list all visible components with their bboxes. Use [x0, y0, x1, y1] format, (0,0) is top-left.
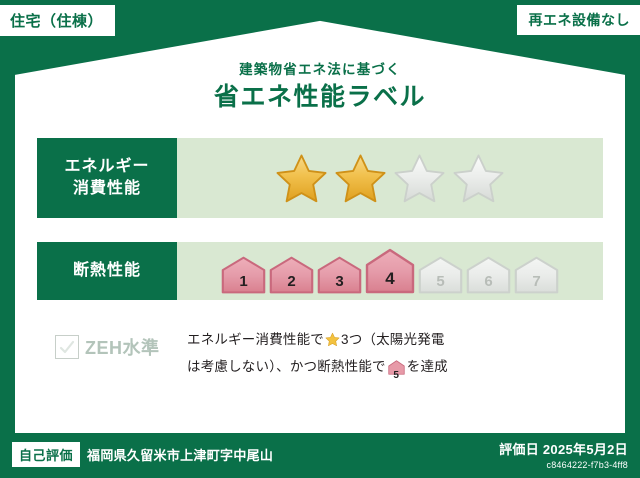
star-filled-icon	[333, 152, 388, 205]
energy-performance-value	[177, 138, 603, 218]
energy-performance-label-key: エネルギー 消費性能	[37, 138, 177, 218]
desc-line2-part2: を達成	[407, 359, 448, 374]
zeh-label: ZEH水準	[85, 334, 160, 360]
insulation-level-number: 3	[317, 274, 362, 289]
footer-left: 自己評価 福岡県久留米市上津町字中尾山	[12, 442, 273, 467]
energy-key-line1: エネルギー	[64, 156, 149, 178]
footer-right: 評価日 2025年5月2日 c8464222-f7b3-4ff8	[499, 439, 628, 470]
star-rating	[274, 152, 506, 205]
star-filled-icon	[274, 152, 329, 205]
insulation-level-marker: 7	[514, 256, 559, 294]
energy-key-line2: 消費性能	[64, 178, 149, 200]
insulation-level-marker: 4	[365, 248, 415, 294]
self-assessment-badge: 自己評価	[12, 442, 80, 467]
inline-house-icon: 5	[388, 359, 405, 383]
insulation-level-number: 1	[221, 274, 266, 289]
insulation-level-number: 5	[418, 274, 463, 289]
insulation-performance-value: 1234567	[177, 242, 603, 300]
insulation-level-marker: 2	[269, 256, 314, 294]
title-subtitle: 建築物省エネ法に基づく	[15, 62, 625, 78]
zeh-mark: ZEH水準	[37, 320, 187, 360]
insulation-level-marker: 6	[466, 256, 511, 294]
card-inner: 建築物省エネ法に基づく 省エネ性能ラベル エネルギー 消費性能 断熱性能	[15, 20, 625, 433]
page-title: 建築物省エネ法に基づく 省エネ性能ラベル	[15, 62, 625, 112]
title-main: 省エネ性能ラベル	[15, 83, 625, 112]
star-empty-icon	[451, 152, 506, 205]
zeh-checkbox-icon	[55, 335, 79, 359]
desc-line2-part1: は考慮しない）、かつ断熱性能で	[187, 359, 386, 374]
building-type-badge: 住宅（住棟）	[0, 5, 115, 36]
footer: 自己評価 福岡県久留米市上津町字中尾山 評価日 2025年5月2日 c84642…	[0, 433, 640, 478]
energy-performance-label: 住宅（住棟） 再エネ設備なし 建築物省エネ法に基づく 省エネ性能ラベル エネルギ…	[0, 0, 640, 478]
inline-house-number: 5	[388, 371, 405, 381]
energy-performance-row: エネルギー 消費性能	[37, 138, 603, 218]
inline-star-icon	[325, 331, 340, 355]
evaluation-id: c8464222-f7b3-4ff8	[499, 460, 628, 470]
insulation-level-number: 6	[466, 274, 511, 289]
house-card: 建築物省エネ法に基づく 省エネ性能ラベル エネルギー 消費性能 断熱性能	[15, 20, 625, 433]
insulation-level-number: 2	[269, 274, 314, 289]
insulation-level-marker: 3	[317, 256, 362, 294]
insulation-level-marker: 5	[418, 256, 463, 294]
insulation-performance-row: 断熱性能 1234567	[37, 242, 603, 300]
evaluation-date: 評価日 2025年5月2日	[499, 439, 628, 458]
achievement-description: エネルギー消費性能で 3つ（太陽光発電 は考慮しない）、かつ断熱性能で 5 を達…	[187, 320, 603, 382]
zeh-section: ZEH水準 エネルギー消費性能で 3つ（太陽光発電 は考慮しない）、かつ断熱性能…	[37, 320, 603, 382]
insulation-performance-label-key: 断熱性能	[37, 242, 177, 300]
insulation-level-number: 7	[514, 274, 559, 289]
renewable-energy-badge: 再エネ設備なし	[517, 5, 640, 35]
insulation-level-scale: 1234567	[221, 248, 559, 294]
property-address: 福岡県久留米市上津町字中尾山	[87, 445, 273, 464]
insulation-level-number: 4	[365, 270, 415, 287]
star-empty-icon	[392, 152, 447, 205]
insulation-level-marker: 1	[221, 256, 266, 294]
desc-line1-part2: 3つ（太陽光発電	[341, 332, 445, 347]
desc-line1-part1: エネルギー消費性能で	[187, 332, 324, 347]
